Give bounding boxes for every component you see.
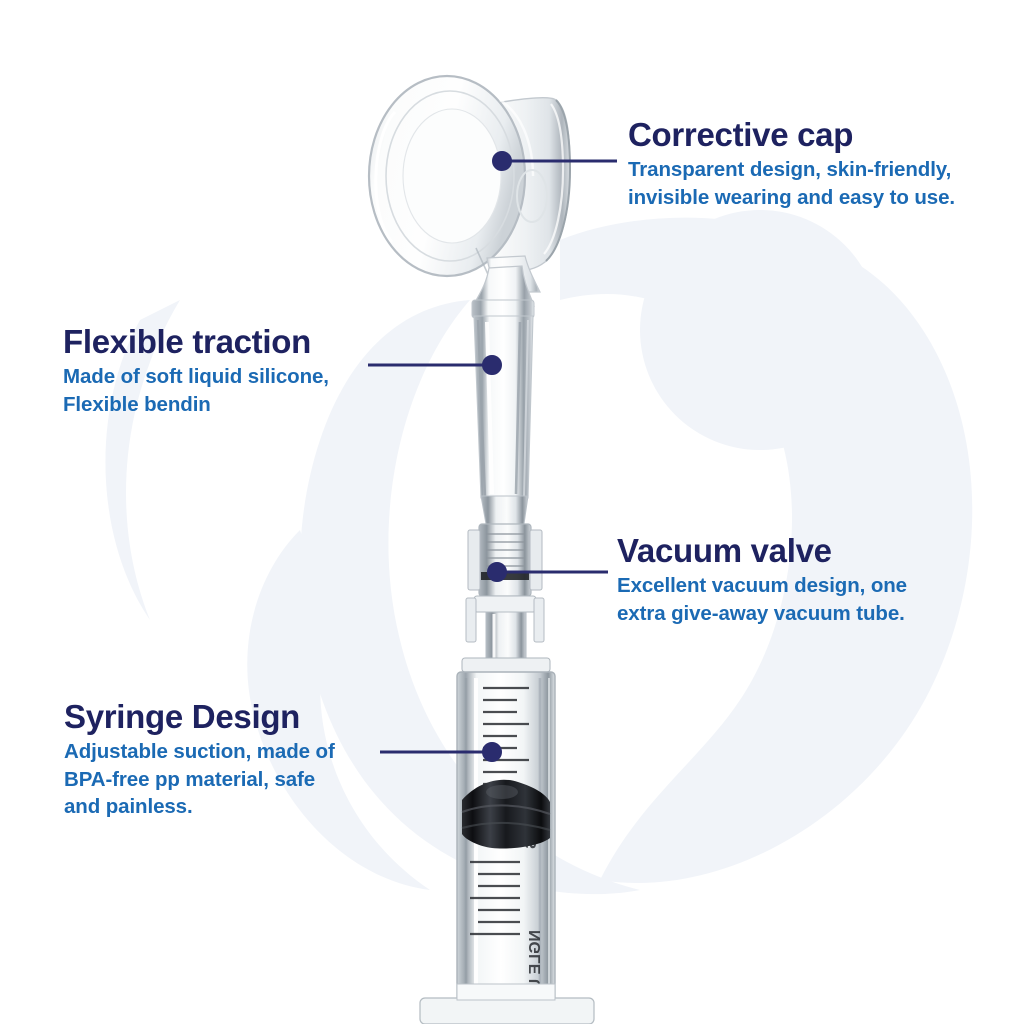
callout-title-corrective-cap: Corrective cap	[628, 118, 955, 153]
callout-desc-flexible-traction: Made of soft liquid silicone, Flexible b…	[63, 363, 329, 419]
callout-desc-line: invisible wearing and easy to use.	[628, 184, 955, 212]
callout-desc-syringe-design: Adjustable suction, made of BPA-free pp …	[64, 738, 335, 822]
callout-flexible-traction: Flexible traction Made of soft liquid si…	[63, 325, 329, 418]
leader-syringe-design	[380, 744, 501, 761]
leader-flexible-traction	[368, 357, 501, 374]
callout-desc-line: Adjustable suction, made of	[64, 738, 335, 766]
infographic-canvas: FOR S NGLE USE	[0, 0, 1024, 1024]
callout-desc-line: BPA-free pp material, safe	[64, 766, 335, 794]
callout-title-flexible-traction: Flexible traction	[63, 325, 329, 360]
callout-desc-corrective-cap: Transparent design, skin-friendly, invis…	[628, 156, 955, 212]
callout-corrective-cap: Corrective cap Transparent design, skin-…	[628, 118, 955, 211]
leader-vacuum-valve	[489, 564, 609, 581]
callout-syringe-design: Syringe Design Adjustable suction, made …	[64, 700, 335, 821]
callout-desc-line: Transparent design, skin-friendly,	[628, 156, 955, 184]
callout-desc-line: and painless.	[64, 793, 335, 821]
callout-desc-line: Made of soft liquid silicone,	[63, 363, 329, 391]
callout-title-vacuum-valve: Vacuum valve	[617, 534, 907, 569]
callout-desc-line: extra give-away vacuum tube.	[617, 600, 907, 628]
callout-vacuum-valve: Vacuum valve Excellent vacuum design, on…	[617, 534, 907, 627]
callout-desc-line: Flexible bendin	[63, 391, 329, 419]
callout-desc-vacuum-valve: Excellent vacuum design, one extra give-…	[617, 572, 907, 628]
callout-desc-line: Excellent vacuum design, one	[617, 572, 907, 600]
leader-corrective-cap	[494, 153, 618, 170]
callout-title-syringe-design: Syringe Design	[64, 700, 335, 735]
